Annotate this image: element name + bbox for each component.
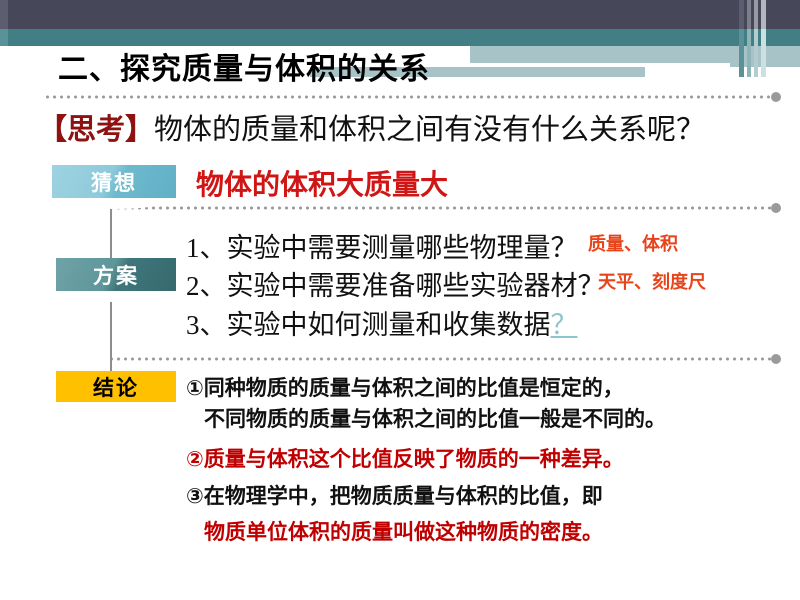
header-band-dark bbox=[0, 0, 800, 29]
divider-bottom bbox=[108, 357, 772, 361]
question-item-3: 3、实验中如何测量和收集数据？ bbox=[186, 303, 578, 342]
header-sliver-7 bbox=[754, 29, 758, 77]
badge-plan[interactable]: 方案 bbox=[56, 258, 176, 291]
divider-top bbox=[44, 95, 772, 99]
question-item-1: 1、实验中需要测量哪些物理量？ bbox=[186, 226, 578, 265]
question-annotation-2: 天平、刻度尺 bbox=[598, 268, 706, 294]
header-sliver-2 bbox=[747, 0, 751, 29]
question-annotation-1: 质量、体积 bbox=[588, 230, 678, 256]
header-sliver-4 bbox=[761, 0, 766, 29]
think-text: 物体的质量和体积之间有没有什么关系呢？ bbox=[154, 114, 705, 146]
question-item-3-text: 3、实验中如何测量和收集数据 bbox=[186, 310, 551, 340]
divider-endcap-icon bbox=[771, 92, 781, 102]
divider-endcap-icon bbox=[771, 203, 781, 213]
badge-guess[interactable]: 猜想 bbox=[52, 165, 176, 198]
slide-canvas: 二、探究质量与体积的关系 【思考】物体的质量和体积之间有没有什么关系呢？ 猜想 … bbox=[0, 0, 800, 600]
conclusion-line-1: ①同种物质的质量与体积之间的比值是恒定的， bbox=[186, 372, 624, 402]
badge-plan-label: 方案 bbox=[56, 258, 176, 291]
header-sliver-8 bbox=[761, 29, 766, 77]
question-hyperlink-mark[interactable]: ？ bbox=[551, 310, 578, 340]
divider-endcap-icon bbox=[771, 354, 781, 364]
badge-guess-label: 猜想 bbox=[52, 165, 176, 198]
header-band-dark-left bbox=[0, 0, 8, 29]
badge-conclusion-label: 结论 bbox=[56, 371, 176, 402]
conclusion-line-5: 物质单位体积的质量叫做这种物质的密度。 bbox=[204, 516, 603, 546]
badge-conclusion[interactable]: 结论 bbox=[56, 371, 176, 402]
header-sliver-1 bbox=[739, 0, 744, 29]
header-sliver-3 bbox=[754, 0, 758, 29]
header-sliver-5 bbox=[739, 29, 744, 77]
divider-middle bbox=[108, 206, 772, 210]
conclusion-line-2: 不同物质的质量与体积之间的比值一般是不同的。 bbox=[204, 403, 666, 433]
conclusion-line-3: ②质量与体积这个比值反映了物质的一种差异。 bbox=[186, 443, 624, 473]
header-band-teal-left bbox=[0, 29, 8, 46]
guess-answer-text: 物体的体积大质量大 bbox=[196, 163, 448, 203]
badge-plan-tail bbox=[56, 291, 176, 302]
page-title: 二、探究质量与体积的关系 bbox=[58, 44, 430, 88]
header-sliver-6 bbox=[747, 29, 751, 77]
question-item-2: 2、实验中需要准备哪些实验器材？ bbox=[186, 264, 605, 303]
think-tag: 【思考】 bbox=[38, 114, 154, 146]
conclusion-line-4: ③在物理学中，把物质质量与体积的比值，即 bbox=[186, 480, 603, 510]
think-line: 【思考】物体的质量和体积之间有没有什么关系呢？ bbox=[38, 106, 705, 148]
